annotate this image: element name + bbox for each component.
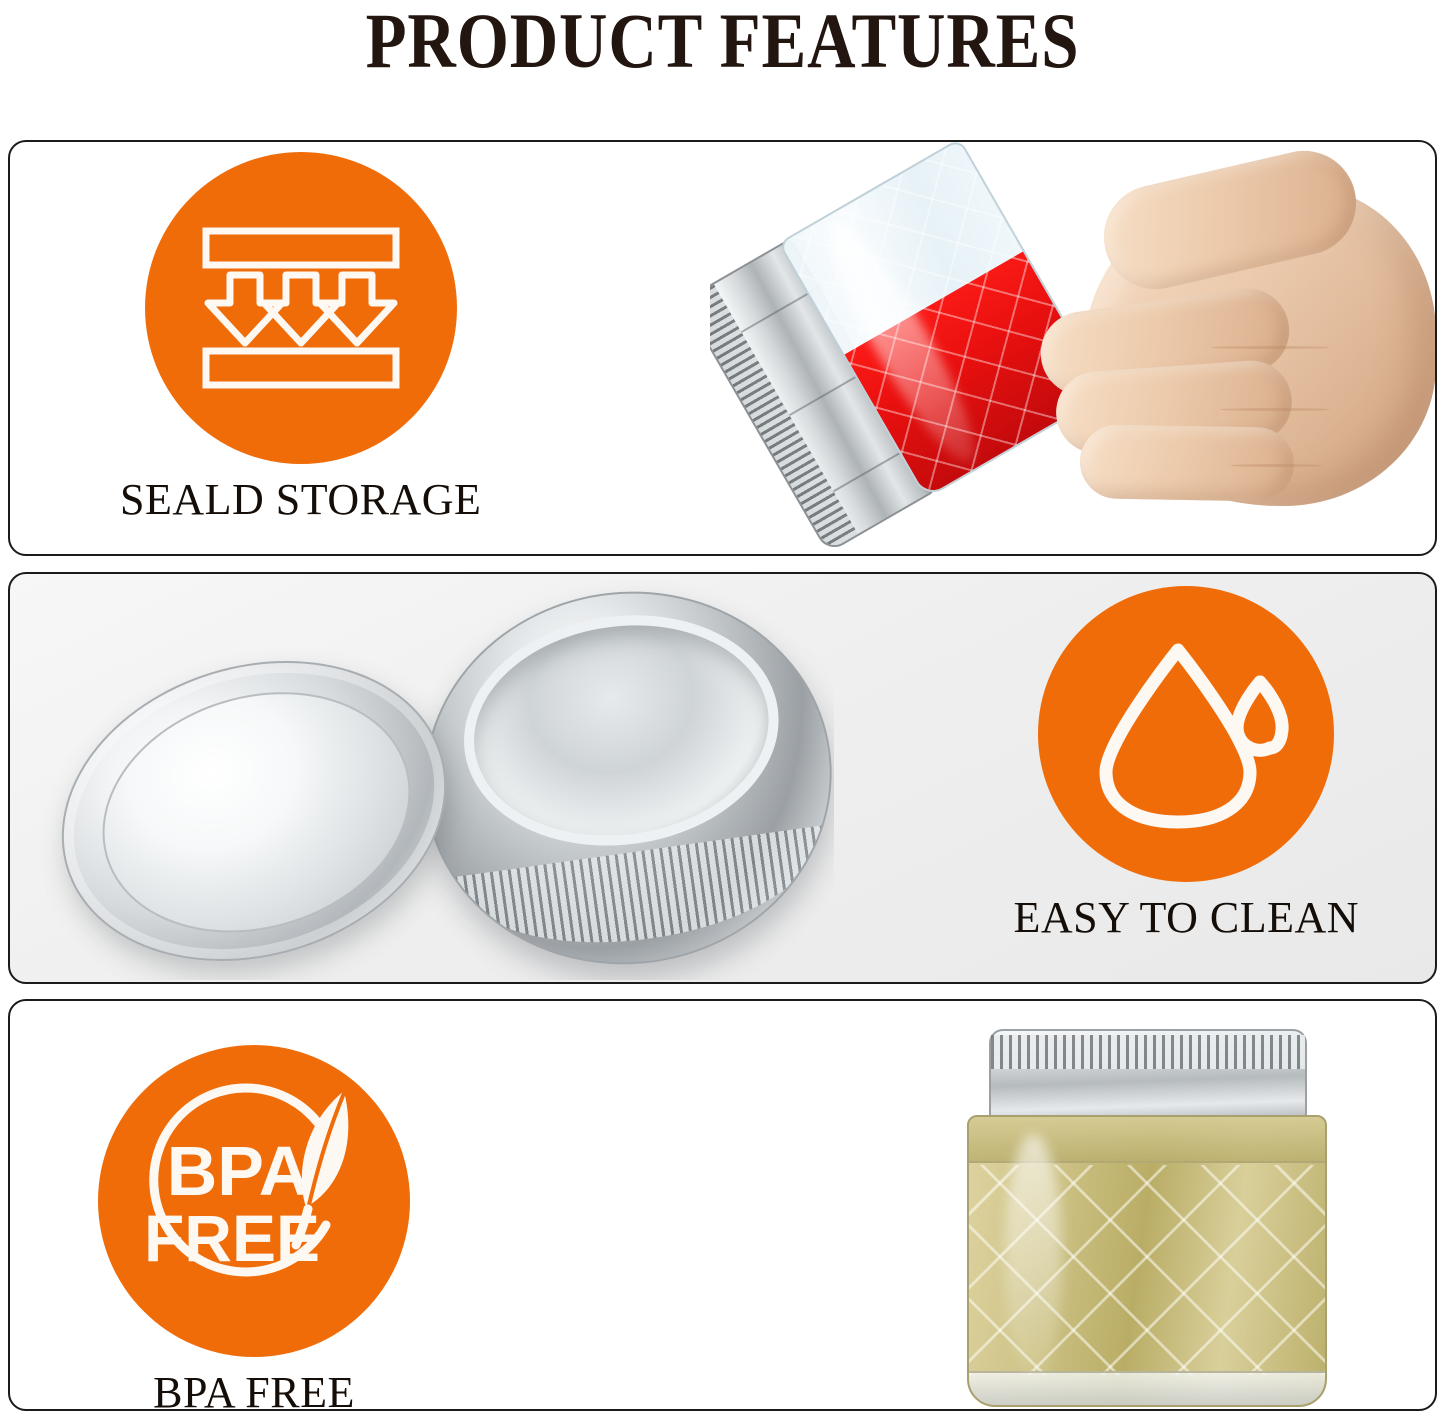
product-features-infographic: PRODUCT FEATURES SEALD STORA xyxy=(0,0,1445,1416)
flat-disc-lid xyxy=(24,615,484,980)
feature-panel-bpa-free: BPA FREE BPA FREE xyxy=(8,999,1437,1411)
glass-highlight xyxy=(1005,1134,1062,1382)
bpa-free-badge: BPA FREE xyxy=(98,1045,410,1357)
jar-glass-body xyxy=(967,1115,1327,1407)
lid-rib-texture xyxy=(991,1035,1305,1069)
ring-thread-texture xyxy=(454,825,834,964)
hand-graphic xyxy=(1010,150,1437,540)
feature-panel-seald-storage: SEALD STORAGE xyxy=(8,140,1437,556)
bpa-badge-text-line-2: FREE xyxy=(144,1201,320,1275)
hand-holding-sealed-jar-red-liquid-photo xyxy=(710,142,1437,554)
feature-caption-seald-storage: SEALD STORAGE xyxy=(120,474,481,525)
bpa-free-leaf-icon: BPA FREE xyxy=(120,1067,388,1335)
quilted-jar-yellow-contents-photo xyxy=(937,1019,1357,1411)
ring-opening xyxy=(449,596,793,866)
screw-band-ring xyxy=(400,580,834,980)
water-droplet-badge xyxy=(1038,586,1334,882)
ring-finger xyxy=(1079,424,1294,502)
page-title: PRODUCT FEATURES xyxy=(101,0,1344,86)
seal-compression-badge xyxy=(145,152,457,464)
feature-bpa-free: BPA FREE BPA FREE xyxy=(98,1045,410,1411)
jar-base xyxy=(969,1371,1325,1405)
jar-lid xyxy=(989,1029,1307,1125)
seal-compression-icon xyxy=(196,223,406,393)
feature-caption-easy-to-clean: EASY TO CLEAN xyxy=(1014,892,1359,943)
yellow-filled-jar-graphic xyxy=(961,1029,1333,1407)
two-silver-mason-jar-lids-photo xyxy=(24,580,834,980)
feature-seald-storage: SEALD STORAGE xyxy=(120,152,481,525)
feature-panel-easy-to-clean: EASY TO CLEAN xyxy=(8,572,1437,984)
feature-caption-bpa-free: BPA FREE xyxy=(153,1367,355,1411)
water-droplet-icon xyxy=(1082,636,1290,832)
bpa-badge-text-line-1: BPA xyxy=(167,1132,310,1210)
feature-easy-to-clean: EASY TO CLEAN xyxy=(1014,586,1359,943)
